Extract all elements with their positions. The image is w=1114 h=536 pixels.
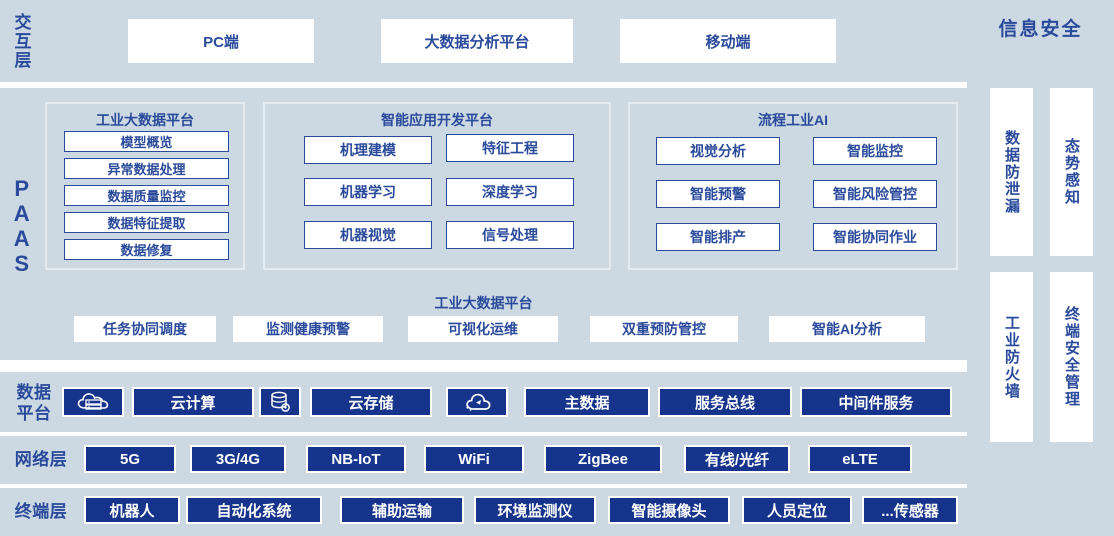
data-platform-item-label: 云计算 — [170, 392, 215, 413]
paas-group-item[interactable]: 智能协同作业 — [813, 223, 937, 251]
paas-item-label: 信号处理 — [482, 225, 538, 245]
paas-group-item[interactable]: 特征工程 — [446, 134, 574, 162]
terminal-layer-band: 终端层 机器人 自动化系统 辅助运输 环境监测仪 智能摄像头 人员定位 ...传… — [0, 488, 967, 536]
paas-group-item[interactable]: 智能排产 — [656, 223, 780, 251]
paas-item-label: 模型概览 — [120, 132, 172, 151]
network-item-wired-fiber[interactable]: 有线/光纤 — [684, 445, 790, 473]
paas-bottom-item-label: 智能AI分析 — [812, 319, 882, 339]
terminal-item-env-monitor[interactable]: 环境监测仪 — [474, 496, 596, 524]
paas-item-label: 智能协同作业 — [833, 227, 917, 247]
paas-bottom-item-label: 可视化运维 — [448, 319, 518, 339]
terminal-item-sensors[interactable]: ...传感器 — [862, 496, 958, 524]
security-item-label: 工业防火墙 — [1001, 315, 1022, 400]
paas-group-process-industry-ai: 流程工业AI 视觉分析 智能监控 智能预警 智能风险管控 智能排产 智能协同作业 — [628, 102, 958, 270]
paas-bottom-item[interactable]: 智能AI分析 — [769, 316, 925, 342]
paas-item-label: 数据特征提取 — [107, 213, 185, 232]
data-platform-label: 数据平台 — [4, 382, 64, 424]
paas-group-item[interactable]: 智能风险管控 — [813, 180, 937, 208]
paas-item-label: 智能监控 — [847, 141, 903, 161]
paas-item-label: 机理建模 — [340, 140, 396, 160]
security-item-label: 终端安全管理 — [1061, 306, 1082, 408]
architecture-diagram: 交互层 PC端 大数据分析平台 移动端 PAAS 工业大数据平台 模型概览 — [0, 0, 1114, 536]
paas-group-item[interactable]: 模型概览 — [64, 131, 229, 152]
terminal-item-smart-camera[interactable]: 智能摄像头 — [608, 496, 730, 524]
paas-item-label: 机器学习 — [340, 182, 396, 202]
information-security-column: 信息安全 数据防泄漏 态势感知 工业防火墙 终端安全管理 — [967, 0, 1114, 536]
information-security-title: 信息安全 — [967, 14, 1114, 41]
paas-item-label: 视觉分析 — [690, 141, 746, 161]
paas-group-item[interactable]: 机器学习 — [304, 178, 432, 206]
interaction-item-label: 大数据分析平台 — [424, 31, 529, 52]
cloud-sync-icon[interactable] — [446, 387, 508, 417]
network-item-label: WiFi — [458, 451, 490, 468]
cloud-sync-icon-glyph — [460, 391, 494, 413]
paas-group-item[interactable]: 机理建模 — [304, 136, 432, 164]
terminal-item-label: 自动化系统 — [216, 500, 291, 521]
paas-group-item[interactable]: 数据特征提取 — [64, 212, 229, 233]
paas-bottom-item[interactable]: 监测健康预警 — [233, 316, 383, 342]
paas-group-item[interactable]: 数据质量监控 — [64, 185, 229, 206]
paas-item-label: 深度学习 — [482, 182, 538, 202]
data-platform-item-service-bus[interactable]: 服务总线 — [658, 387, 792, 417]
paas-item-label: 异常数据处理 — [107, 159, 185, 178]
terminal-item-robot[interactable]: 机器人 — [84, 496, 180, 524]
security-item-endpoint-security-mgmt[interactable]: 终端安全管理 — [1050, 272, 1093, 442]
network-item-wifi[interactable]: WiFi — [424, 445, 524, 473]
paas-item-label: 数据修复 — [120, 240, 172, 259]
network-item-label: eLTE — [842, 451, 878, 468]
interaction-item-mobile[interactable]: 移动端 — [620, 19, 836, 63]
data-platform-item-cloud-storage[interactable]: 云存储 — [310, 387, 432, 417]
terminal-item-personnel-location[interactable]: 人员定位 — [742, 496, 852, 524]
terminal-item-label: 辅助运输 — [372, 500, 432, 521]
paas-group-item[interactable]: 视觉分析 — [656, 137, 780, 165]
paas-item-label: 特征工程 — [482, 138, 538, 158]
network-item-label: ZigBee — [578, 451, 628, 468]
data-platform-item-middleware[interactable]: 中间件服务 — [800, 387, 952, 417]
paas-item-label: 数据质量监控 — [107, 186, 185, 205]
network-item-zigbee[interactable]: ZigBee — [544, 445, 662, 473]
paas-group-title: 工业大数据平台 — [47, 110, 243, 130]
data-platform-item-master-data[interactable]: 主数据 — [524, 387, 650, 417]
database-gear-icon[interactable] — [259, 387, 301, 417]
paas-group-title: 智能应用开发平台 — [265, 110, 609, 130]
paas-group-item[interactable]: 机器视觉 — [304, 221, 432, 249]
paas-layer-label: PAAS — [4, 176, 40, 276]
terminal-item-label: 机器人 — [109, 500, 154, 521]
security-item-situational-awareness[interactable]: 态势感知 — [1050, 88, 1093, 256]
terminal-item-label: 环境监测仪 — [497, 500, 572, 521]
data-platform-item-label: 主数据 — [564, 392, 609, 413]
data-platform-item-label: 中间件服务 — [838, 392, 913, 413]
data-platform-item-label: 服务总线 — [695, 392, 755, 413]
interaction-item-pc[interactable]: PC端 — [128, 19, 314, 63]
paas-bottom-item[interactable]: 可视化运维 — [408, 316, 558, 342]
network-item-5g[interactable]: 5G — [84, 445, 176, 473]
network-item-nbiot[interactable]: NB-IoT — [306, 445, 406, 473]
security-item-label: 态势感知 — [1061, 138, 1082, 206]
paas-bottom-item-label: 双重预防管控 — [622, 319, 706, 339]
terminal-layer-label: 终端层 — [6, 502, 76, 521]
paas-group-intelligent-app-dev: 智能应用开发平台 机理建模 特征工程 机器学习 深度学习 机器视觉 信号处理 — [263, 102, 611, 270]
cloud-server-icon[interactable] — [62, 387, 124, 417]
paas-item-label: 智能风险管控 — [833, 184, 917, 204]
terminal-item-aux-transport[interactable]: 辅助运输 — [340, 496, 464, 524]
data-platform-band: 数据平台 云计算 — [0, 372, 967, 432]
network-item-label: 5G — [120, 451, 140, 468]
network-item-3g4g[interactable]: 3G/4G — [190, 445, 286, 473]
paas-item-label: 机器视觉 — [340, 225, 396, 245]
paas-group-item[interactable]: 信号处理 — [446, 221, 574, 249]
paas-group-item[interactable]: 智能预警 — [656, 180, 780, 208]
terminal-item-automation[interactable]: 自动化系统 — [186, 496, 322, 524]
paas-layer-band: PAAS 工业大数据平台 模型概览 异常数据处理 数据质量监控 数据特征提取 — [0, 88, 967, 360]
paas-bottom-item[interactable]: 任务协同调度 — [74, 316, 216, 342]
network-layer-band: 网络层 5G 3G/4G NB-IoT WiFi ZigBee 有线/光纤 eL… — [0, 436, 967, 484]
paas-bottom-item-label: 任务协同调度 — [103, 319, 187, 339]
security-item-label: 数据防泄漏 — [1001, 130, 1022, 215]
paas-item-label: 智能排产 — [690, 227, 746, 247]
network-layer-label: 网络层 — [6, 450, 76, 469]
interaction-item-label: 移动端 — [705, 31, 750, 52]
interaction-layer-band: 交互层 PC端 大数据分析平台 移动端 — [0, 0, 967, 82]
interaction-item-bigdata[interactable]: 大数据分析平台 — [381, 19, 573, 63]
terminal-item-label: ...传感器 — [881, 500, 939, 521]
terminal-item-label: 人员定位 — [767, 500, 827, 521]
paas-label-text: PAAS — [13, 176, 31, 276]
paas-group-item[interactable]: 数据修复 — [64, 239, 229, 260]
database-gear-icon-glyph — [268, 390, 292, 414]
paas-item-label: 智能预警 — [690, 184, 746, 204]
paas-bottom-item[interactable]: 双重预防管控 — [590, 316, 738, 342]
interaction-item-label: PC端 — [203, 31, 239, 52]
interaction-layer-label: 交互层 — [6, 6, 36, 76]
paas-group-industrial-bigdata: 工业大数据平台 模型概览 异常数据处理 数据质量监控 数据特征提取 数据修复 — [45, 102, 245, 270]
network-item-label: 有线/光纤 — [705, 449, 769, 470]
layer-stack: 交互层 PC端 大数据分析平台 移动端 PAAS 工业大数据平台 模型概览 — [0, 0, 967, 536]
network-item-label: NB-IoT — [331, 451, 380, 468]
network-item-label: 3G/4G — [216, 451, 260, 468]
paas-group-item[interactable]: 智能监控 — [813, 137, 937, 165]
paas-bottom-item-label: 监测健康预警 — [266, 319, 350, 339]
data-platform-item-label: 云存储 — [348, 392, 393, 413]
data-platform-label-text: 数据平台 — [15, 382, 53, 424]
security-item-industrial-firewall[interactable]: 工业防火墙 — [990, 272, 1033, 442]
data-platform-item-cloud-computing[interactable]: 云计算 — [132, 387, 254, 417]
terminal-item-label: 智能摄像头 — [631, 500, 706, 521]
security-item-data-leak-prevention[interactable]: 数据防泄漏 — [990, 88, 1033, 256]
paas-group-title: 流程工业AI — [630, 110, 956, 130]
paas-group-item[interactable]: 异常数据处理 — [64, 158, 229, 179]
cloud-server-icon-glyph — [76, 391, 110, 413]
network-item-elte[interactable]: eLTE — [808, 445, 912, 473]
paas-bottom-band-title: 工业大数据平台 — [0, 293, 967, 313]
paas-group-item[interactable]: 深度学习 — [446, 178, 574, 206]
